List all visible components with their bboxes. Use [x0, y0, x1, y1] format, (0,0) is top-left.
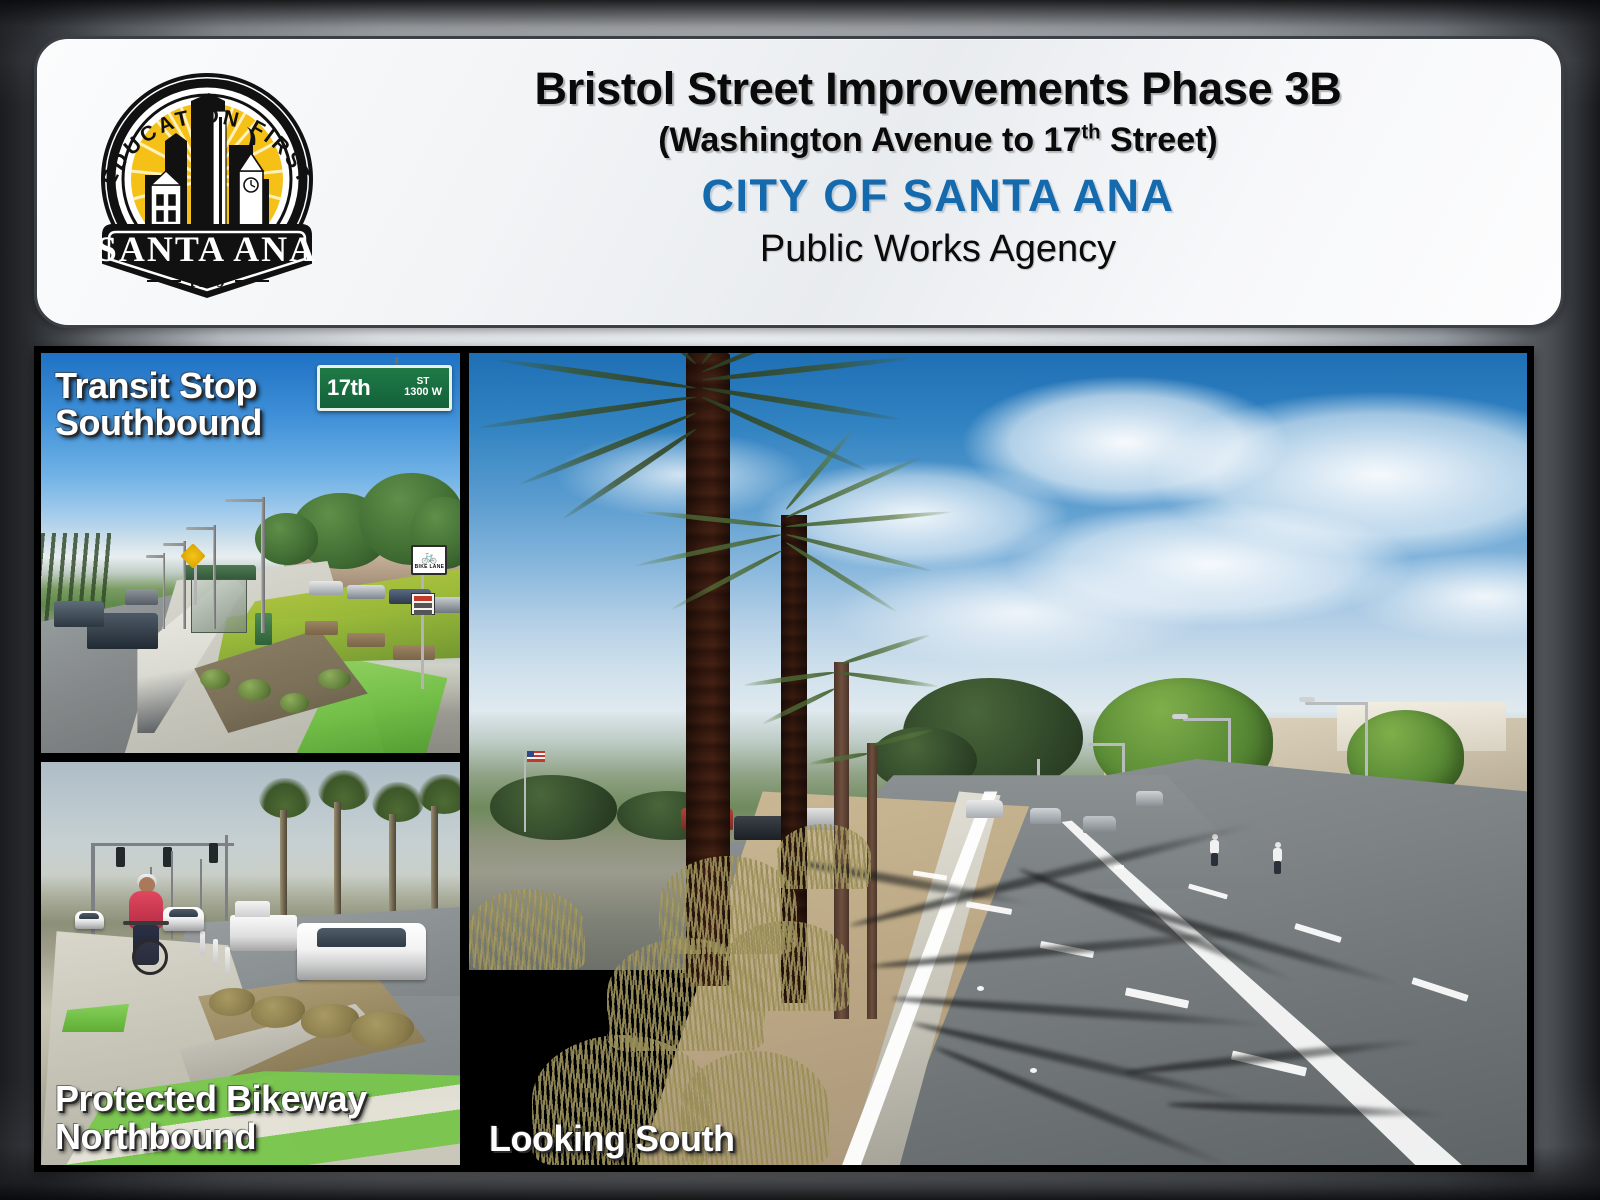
header-panel: SANTA ANA 1869 EDUCATION FIRST Bristol S…	[34, 36, 1564, 328]
photo-collage: 🚲 BIKE LANE 17th	[34, 346, 1534, 1172]
seal-banner-text: SANTA ANA	[97, 229, 317, 269]
city-seal-logo: SANTA ANA 1869 EDUCATION FIRST	[73, 53, 341, 319]
photo-looking-south: Looking South	[469, 353, 1527, 1165]
street-sign-17th: 17th ST 1300 W	[317, 365, 452, 411]
santa-ana-city-seal-icon: SANTA ANA 1869 EDUCATION FIRST	[73, 53, 341, 319]
page-title: Bristol Street Improvements Phase 3B	[337, 65, 1539, 114]
photo-caption-looking-south: Looking South	[489, 1120, 734, 1157]
page-subtitle: (Washington Avenue to 17th Street)	[337, 120, 1539, 161]
subtitle-prefix: (Washington Avenue to 17	[658, 121, 1081, 159]
photo-protected-bikeway-northbound: Protected Bikeway Northbound	[41, 762, 460, 1165]
cyclist	[121, 875, 175, 971]
seal-year-text: 1869	[188, 274, 226, 291]
truck-white-pickup	[230, 915, 297, 951]
agency-name: Public Works Agency	[337, 227, 1539, 272]
subtitle-ordinal: th	[1081, 121, 1100, 143]
photo-transit-stop-southbound: 🚲 BIKE LANE 17th	[41, 353, 460, 753]
photo-caption-transit-stop: Transit Stop Southbound	[55, 367, 262, 442]
street-sign-name: 17th	[327, 377, 370, 399]
street-sign-block: 1300 W	[404, 387, 442, 399]
bicycle-icon: 🚲	[421, 550, 437, 563]
photo-caption-protected-bikeway: Protected Bikeway Northbound	[55, 1080, 367, 1155]
car-white-sedan	[297, 923, 427, 979]
slide-canvas: SANTA ANA 1869 EDUCATION FIRST Bristol S…	[0, 0, 1600, 1200]
collage-left-column: 🚲 BIKE LANE 17th	[41, 353, 460, 1165]
header-title-block: Bristol Street Improvements Phase 3B (Wa…	[337, 65, 1539, 272]
city-name: CITY OF SANTA ANA	[337, 169, 1539, 223]
bus-shelter	[188, 565, 251, 633]
bike-lane-sign: 🚲 BIKE LANE	[411, 545, 447, 575]
subtitle-suffix: Street)	[1101, 121, 1218, 159]
bike-lane-sign-label: BIKE LANE	[415, 564, 445, 570]
